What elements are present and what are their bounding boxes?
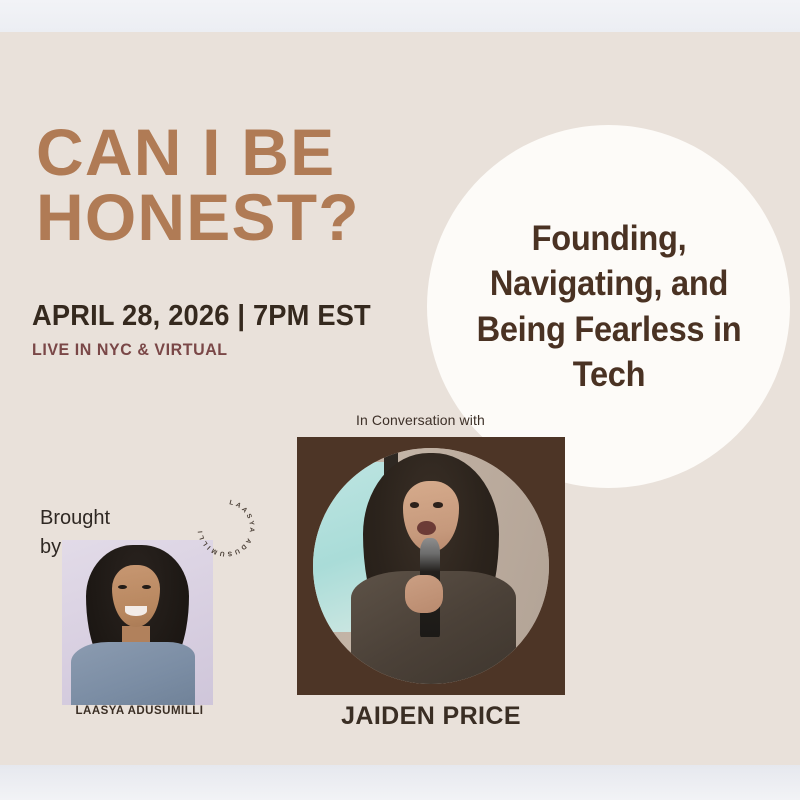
host-photo-eye-left	[118, 585, 127, 589]
event-poster: Founding, Navigating, and Being Fearless…	[0, 32, 800, 765]
speaker-photo-hand	[405, 575, 443, 613]
bottom-letterbox-band	[0, 765, 800, 800]
poster-canvas-root: Founding, Navigating, and Being Fearless…	[0, 0, 800, 800]
event-location: LIVE IN NYC & VIRTUAL	[32, 340, 228, 360]
page-title: CAN I BE HONEST?	[36, 120, 436, 249]
talk-subtitle-text: Founding, Navigating, and Being Fearless…	[455, 216, 762, 398]
host-name: LAASYA ADUSUMILLI	[42, 705, 237, 717]
speaker-name: JAIDEN PRICE	[297, 702, 565, 731]
brand-badge-circular-logo: LAASYA ADUSUMILLI	[192, 494, 260, 562]
brand-badge-text: LAASYA ADUSUMILLI	[197, 499, 255, 557]
event-date: APRIL 28, 2026 | 7PM EST	[32, 300, 371, 333]
speaker-photo	[313, 448, 549, 684]
speaker-photo-eye-left	[410, 502, 419, 507]
host-photo-smile	[125, 606, 146, 616]
host-photo-eye-right	[142, 585, 151, 589]
in-conversation-label: In Conversation with	[356, 412, 485, 428]
top-letterbox-band	[0, 0, 800, 32]
host-photo	[62, 540, 213, 705]
talk-subtitle-circle: Founding, Navigating, and Being Fearless…	[427, 125, 790, 488]
speaker-photo-frame	[297, 437, 565, 695]
speaker-photo-mouth	[417, 521, 436, 535]
speaker-photo-eye-right	[433, 502, 442, 507]
host-photo-blazer	[71, 642, 195, 705]
